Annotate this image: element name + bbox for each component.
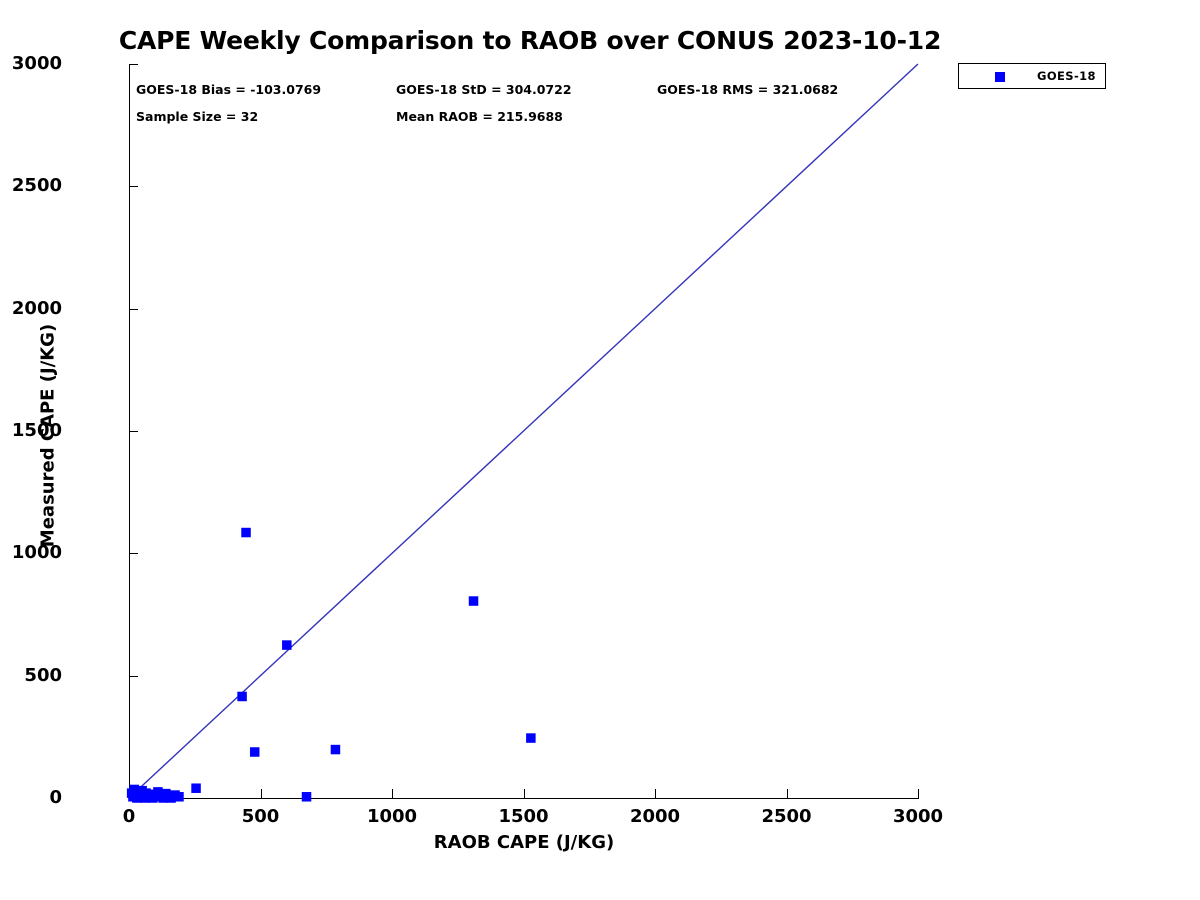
y-tick-mark (129, 64, 138, 65)
data-point-marker (156, 792, 166, 802)
data-point-marker (161, 789, 171, 799)
stat-std: GOES-18 StD = 304.0722 (396, 82, 572, 97)
data-point-marker (130, 785, 140, 795)
scatter-plot-figure: CAPE Weekly Comparison to RAOB over CONU… (0, 0, 1200, 900)
legend-box: GOES-18 (958, 63, 1106, 89)
legend-label-goes18: GOES-18 (1037, 69, 1096, 83)
x-tick-mark (392, 789, 393, 799)
x-tick-label: 2500 (742, 806, 832, 827)
data-point-marker (137, 786, 147, 796)
stat-sample-size: Sample Size = 32 (136, 109, 258, 124)
x-tick-label: 3000 (873, 806, 963, 827)
y-tick-mark (129, 186, 138, 187)
data-point-marker (133, 787, 143, 797)
x-tick-label: 0 (84, 806, 174, 827)
x-tick-mark (787, 789, 788, 799)
x-tick-label: 1500 (479, 806, 569, 827)
chart-title: CAPE Weekly Comparison to RAOB over CONU… (0, 26, 1060, 55)
data-point-marker (191, 783, 201, 793)
data-point-marker (136, 792, 146, 802)
data-point-marker (282, 640, 292, 650)
y-tick-mark (129, 553, 138, 554)
data-point-marker (250, 747, 259, 757)
stat-mean-raob: Mean RAOB = 215.9688 (396, 109, 563, 124)
y-axis-label: Measured CAPE (J/KG) (38, 66, 59, 806)
x-tick-label: 2000 (610, 806, 700, 827)
stat-bias: GOES-18 Bias = -103.0769 (136, 82, 321, 97)
data-point-marker (237, 692, 247, 702)
x-tick-mark (918, 789, 919, 799)
data-point-marker (174, 792, 184, 802)
y-tick-mark (129, 309, 138, 310)
data-point-marker (164, 791, 174, 801)
x-tick-label: 1000 (347, 806, 437, 827)
data-layer (0, 0, 1200, 900)
x-tick-mark (524, 789, 525, 799)
scatter-markers (127, 528, 536, 803)
data-point-marker (302, 792, 312, 802)
data-point-marker (143, 792, 153, 802)
data-point-marker (141, 788, 151, 798)
data-point-marker (331, 745, 341, 755)
stat-rms: GOES-18 RMS = 321.0682 (657, 82, 838, 97)
data-point-marker (526, 733, 536, 743)
y-tick-mark (129, 798, 138, 799)
y-tick-mark (129, 431, 138, 432)
data-point-marker (469, 596, 479, 606)
data-point-marker (153, 787, 163, 797)
x-tick-label: 500 (216, 806, 306, 827)
y-tick-mark (129, 676, 138, 677)
data-point-marker (241, 528, 251, 538)
x-axis-label: RAOB CAPE (J/KG) (129, 832, 919, 853)
legend-swatch-goes18 (995, 72, 1005, 82)
x-tick-mark (655, 789, 656, 799)
one-to-one-reference-line (129, 64, 918, 798)
x-tick-mark (129, 789, 130, 799)
x-tick-mark (261, 789, 262, 799)
